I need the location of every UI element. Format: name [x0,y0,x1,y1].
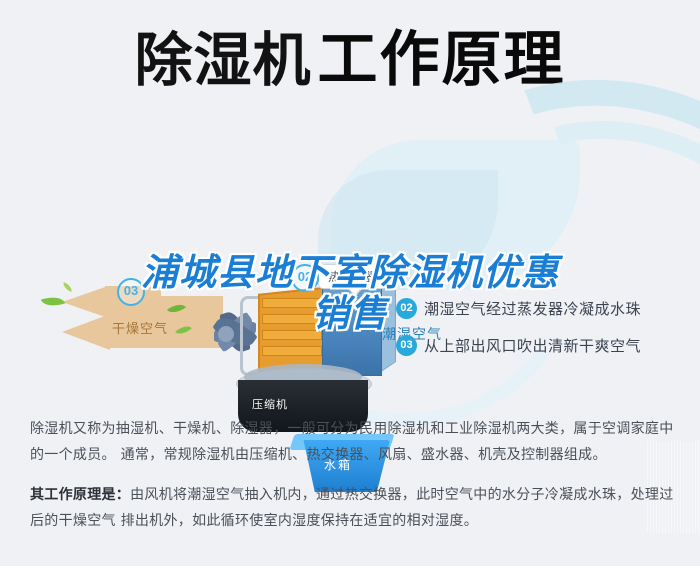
fan-hub [218,326,234,342]
evaporator-fin [695,441,696,533]
title-part-dehumidifier: 除湿机 [134,26,311,94]
infographic-page: 除湿机工作原理 干燥空气 [0,0,700,566]
legend-list: 02 潮湿空气经过蒸发器冷凝成水珠 03 从上部出风口吹出清新干爽空气 [396,298,696,372]
legend-badge-02: 02 [396,298,417,319]
body-copy: 除湿机又称为抽湿机、干燥机、除湿器，一般可分为民用除湿机和工业除湿机两大类，属于… [30,416,674,540]
evaporator-fin [692,441,693,533]
coil-tube [262,298,322,308]
title-part-principle: 工作原理 [318,26,566,93]
legend-item: 03 从上部出风口吹出清新干爽空气 [396,335,696,356]
evaporator-fin [680,441,681,533]
diagram-marker-03: 03 [117,278,145,306]
legend-item: 02 潮湿空气经过蒸发器冷凝成水珠 [396,298,696,319]
diagram-marker-01: 01 [360,296,388,324]
evaporator-fin [674,441,675,533]
evaporator-fin [677,441,678,533]
dry-air-arrow-head-lower-icon [62,314,110,350]
evaporator-fin [698,441,699,533]
compressor-label: 压缩机 [252,396,288,412]
paragraph-one-line-two: 通常，常规除湿机由压缩机、热交换器、风扇、盛水器、机壳及控制器组成。 [121,447,607,463]
evaporator-fin [686,441,687,533]
paragraph-two: 其工作原理是：由风机将潮湿空气抽入机内，通过热交换器，此时空气中的水分子冷凝成水… [30,482,674,534]
coil-tube [262,346,322,356]
legend-text-02: 潮湿空气经过蒸发器冷凝成水珠 [424,298,641,319]
paragraph-one: 除湿机又称为抽湿机、干燥机、除湿器，一般可分为民用除湿机和工业除湿机两大类，属于… [30,416,674,468]
paragraph-two-line-two: 排出机外，如此循环使室内湿度保持在适宜的相对湿度。 [121,513,479,529]
dry-air-label: 干燥空气 [112,318,168,337]
coil-tube [262,314,322,324]
heat-exchanger-callout: 热交换器 [318,264,386,289]
legend-badge-03: 03 [396,335,417,356]
diagram-marker-02: 02 [291,264,319,292]
coil-tube [262,330,322,340]
legend-text-03: 从上部出风口吹出清新干爽空气 [424,335,641,356]
paragraph-two-lead: 其工作原理是： [30,487,130,503]
evaporator-fin [683,441,684,533]
evaporator-fin [689,441,690,533]
